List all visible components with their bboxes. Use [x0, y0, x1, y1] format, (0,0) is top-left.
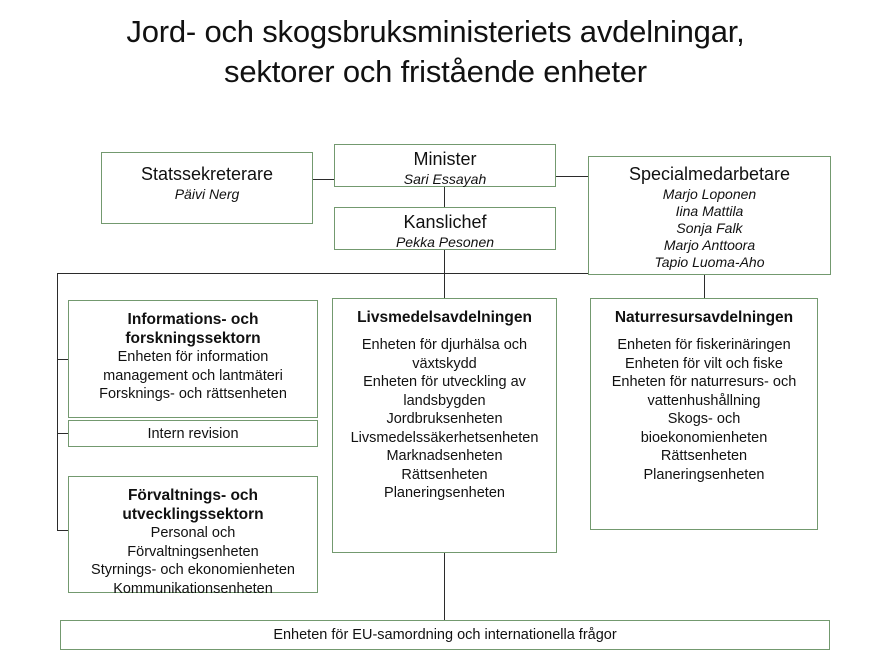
node-forvaltnings-utvecklingssektorn[interactable]: Förvaltnings- och utvecklingssektorn Per…: [68, 476, 318, 593]
connector-statssekreterare-minister: [313, 179, 334, 180]
specialmedarbetare-title: Specialmedarbetare: [629, 163, 790, 186]
list-item: Forsknings- och rättsenheten: [99, 385, 287, 404]
list-item: Tapio Luoma-Aho: [654, 254, 764, 271]
forvaltnings-title-line-1: Förvaltnings- och: [128, 486, 258, 505]
list-item: Marjo Loponen: [654, 186, 764, 203]
connector-minister-kanslichef: [444, 187, 445, 207]
specialmedarbetare-people: Marjo LoponenIina MattilaSonja FalkMarjo…: [654, 186, 764, 271]
connector-horizontal-bus: [57, 273, 588, 274]
page-title: Jord- och skogsbruksministeriets avdelni…: [0, 12, 871, 92]
connector-livsmedelsavdelningen-eu: [444, 553, 445, 620]
node-kanslichef[interactable]: Kanslichef Pekka Pesonen: [334, 207, 556, 250]
connector-bus-livsmedelsavdelningen: [444, 273, 445, 298]
connector-specialmedarbetare-naturresursavdelningen: [704, 275, 705, 298]
forvaltnings-unit-list: Personal ochFörvaltningsenhetenStyrnings…: [91, 524, 295, 598]
page-title-line-1: Jord- och skogsbruksministeriets avdelni…: [0, 12, 871, 52]
node-specialmedarbetare[interactable]: Specialmedarbetare Marjo LoponenIina Mat…: [588, 156, 831, 275]
list-item: Sonja Falk: [654, 220, 764, 237]
list-item: Skogs- och: [612, 410, 797, 429]
connector-kanslichef-bus: [444, 250, 445, 274]
list-item: Enheten för vilt och fiske: [612, 355, 797, 374]
list-item: vattenhushållning: [612, 392, 797, 411]
list-item: Rättsenheten: [612, 447, 797, 466]
list-item: Rättsenheten: [351, 466, 539, 485]
minister-person: Sari Essayah: [404, 171, 486, 188]
eu-samordning-label: Enheten för EU-samordning och internatio…: [273, 626, 616, 644]
connector-minister-specialmedarbetare: [556, 176, 588, 177]
minister-title: Minister: [413, 148, 476, 171]
node-eu-samordning[interactable]: Enheten för EU-samordning och internatio…: [60, 620, 830, 650]
forvaltnings-title-line-2: utvecklingssektorn: [122, 505, 263, 524]
list-item: Personal och: [91, 524, 295, 543]
informations-title-line-1: Informations- och: [128, 310, 259, 329]
list-item: växtskydd: [351, 355, 539, 374]
list-item: Marjo Anttoora: [654, 237, 764, 254]
list-item: Enheten för fiskerinäringen: [612, 336, 797, 355]
intern-revision-label: Intern revision: [147, 425, 238, 443]
kanslichef-title: Kanslichef: [403, 211, 486, 234]
naturresursavdelningen-unit-list: Enheten för fiskerinäringenEnheten för v…: [612, 336, 797, 484]
livsmedelsavdelningen-title: Livsmedelsavdelningen: [357, 308, 532, 327]
connector-left-rail: [57, 273, 58, 531]
list-item: Jordbruksenheten: [351, 410, 539, 429]
statssekreterare-person: Päivi Nerg: [175, 186, 240, 203]
node-minister[interactable]: Minister Sari Essayah: [334, 144, 556, 187]
list-item: Planeringsenheten: [351, 484, 539, 503]
naturresursavdelningen-title: Naturresursavdelningen: [615, 308, 793, 327]
node-livsmedelsavdelningen[interactable]: Livsmedelsavdelningen Enheten för djurhä…: [332, 298, 557, 553]
node-statssekreterare[interactable]: Statssekreterare Päivi Nerg: [101, 152, 313, 224]
list-item: Planeringsenheten: [612, 466, 797, 485]
list-item: Förvaltningsenheten: [91, 543, 295, 562]
list-item: Livsmedelssäkerhetsenheten: [351, 429, 539, 448]
list-item: Iina Mattila: [654, 203, 764, 220]
list-item: Kommunikationsenheten: [91, 580, 295, 599]
list-item: Enheten för utveckling av: [351, 373, 539, 392]
list-item: Enheten för naturresurs- och: [612, 373, 797, 392]
kanslichef-person: Pekka Pesonen: [396, 234, 494, 251]
node-informations-forskningssektorn[interactable]: Informations- och forskningssektorn Enhe…: [68, 300, 318, 418]
page-title-line-2: sektorer och fristående enheter: [0, 52, 871, 92]
livsmedelsavdelningen-unit-list: Enheten för djurhälsa ochväxtskyddEnhete…: [351, 336, 539, 503]
list-item: landsbygden: [351, 392, 539, 411]
statssekreterare-title: Statssekreterare: [141, 163, 273, 186]
list-item: management och lantmäteri: [99, 367, 287, 386]
list-item: Marknadsenheten: [351, 447, 539, 466]
list-item: Styrnings- och ekonomienheten: [91, 561, 295, 580]
list-item: bioekonomienheten: [612, 429, 797, 448]
node-intern-revision[interactable]: Intern revision: [68, 420, 318, 447]
informations-unit-list: Enheten för informationmanagement och la…: [99, 348, 287, 404]
list-item: Enheten för information: [99, 348, 287, 367]
node-naturresursavdelningen[interactable]: Naturresursavdelningen Enheten för fiske…: [590, 298, 818, 530]
list-item: Enheten för djurhälsa och: [351, 336, 539, 355]
org-chart: Jord- och skogsbruksministeriets avdelni…: [0, 0, 871, 667]
informations-title-line-2: forskningssektorn: [125, 329, 260, 348]
